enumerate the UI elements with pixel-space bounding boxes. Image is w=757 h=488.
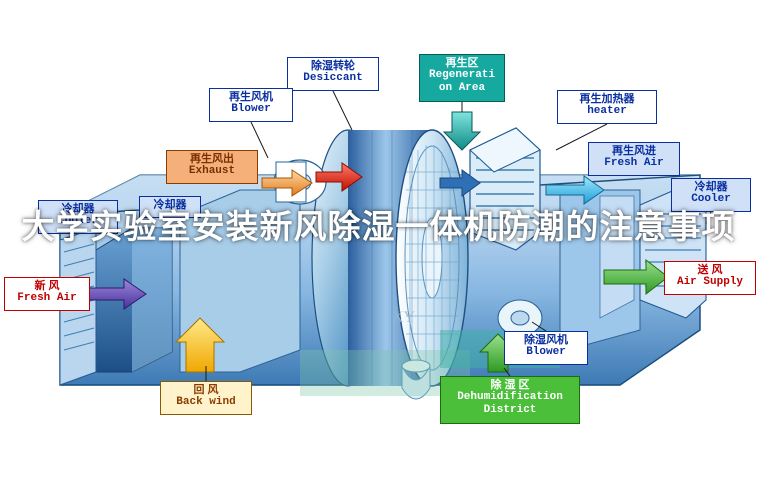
label-fresh-air: 新 风Fresh Air [4, 277, 90, 311]
label-back-wind-cn: 回 风 [164, 384, 248, 396]
label-regeneration-fresh-air-en: Fresh Air [592, 157, 676, 169]
label-regeneration-heater-cn: 再生加热器 [561, 93, 653, 105]
label-regeneration-fresh-air-cn: 再生风进 [592, 145, 676, 157]
label-regeneration-area: 再生区Regenerati on Area [419, 54, 505, 102]
label-dehumidification-district-en: Dehumidification District [444, 391, 576, 416]
label-regeneration-blower: 再生风机Blower [209, 88, 293, 122]
label-desiccant-wheel: 除湿转轮Desiccant [287, 57, 379, 91]
label-exhaust-en: Exhaust [170, 165, 254, 177]
label-cooler-right-cn: 冷却器 [675, 181, 747, 193]
label-regeneration-heater-en: heater [561, 105, 653, 117]
watermark-text: XY [392, 309, 416, 326]
label-fresh-air-cn: 新 风 [8, 280, 86, 292]
label-regeneration-area-cn: 再生区 [423, 57, 501, 69]
label-dehumidification-district-cn: 除 湿 区 [444, 379, 576, 391]
label-desiccant-wheel-cn: 除湿转轮 [291, 60, 375, 72]
label-exhaust: 再生风出Exhaust [166, 150, 258, 184]
label-fresh-air-en: Fresh Air [8, 292, 86, 304]
label-exhaust-cn: 再生风出 [170, 153, 254, 165]
label-regeneration-blower-cn: 再生风机 [213, 91, 289, 103]
label-regeneration-blower-en: Blower [213, 103, 289, 115]
label-air-supply-en: Air Supply [668, 276, 752, 288]
label-air-supply: 送 风Air Supply [664, 261, 756, 295]
label-dehumidification-district: 除 湿 区Dehumidification District [440, 376, 580, 424]
label-dehumidify-blower-en: Blower [508, 346, 584, 358]
label-air-supply-cn: 送 风 [668, 264, 752, 276]
label-regeneration-area-en: Regenerati on Area [423, 69, 501, 94]
label-back-wind: 回 风Back wind [160, 381, 252, 415]
diagram-canvas: XY 除湿转轮Desiccant再生区Regenerati on Area再生风… [0, 0, 757, 488]
overlay-title: 大学实验室安装新风除湿一体机防潮的注意事项 [0, 205, 757, 249]
label-dehumidify-blower-cn: 除湿风机 [508, 334, 584, 346]
label-cooler-right-en: Cooler [675, 193, 747, 205]
label-regeneration-fresh-air: 再生风进Fresh Air [588, 142, 680, 176]
label-regeneration-heater: 再生加热器heater [557, 90, 657, 124]
label-desiccant-wheel-en: Desiccant [291, 72, 375, 84]
label-back-wind-en: Back wind [164, 396, 248, 408]
label-dehumidify-blower: 除湿风机Blower [504, 331, 588, 365]
